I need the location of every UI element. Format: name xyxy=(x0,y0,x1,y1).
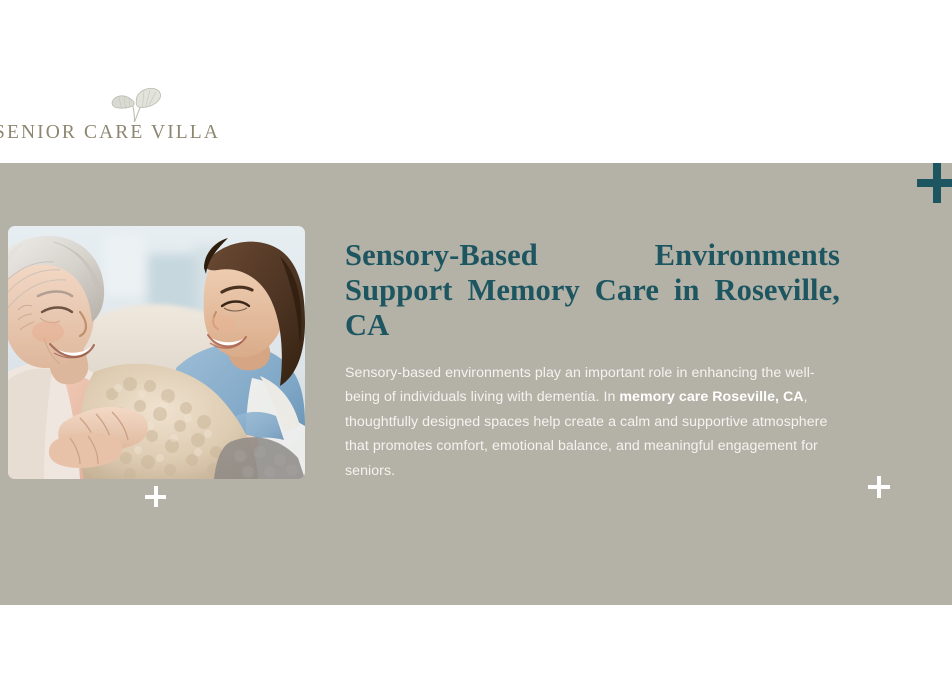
page-footer-spacer xyxy=(0,605,952,673)
plus-icon-top-right xyxy=(917,163,952,203)
hero-copy: Sensory-Based Environments Support Memor… xyxy=(345,163,840,483)
plus-icon-right-lower xyxy=(868,476,890,498)
plus-icon-under-image xyxy=(145,486,166,507)
site-header: SENIOR CARE VILLA xyxy=(0,0,952,163)
brand-wordmark: SENIOR CARE VILLA xyxy=(0,122,220,143)
hero-paragraph-highlight: memory care Roseville, CA xyxy=(619,389,803,405)
ginkgo-leaf-icon xyxy=(109,78,167,124)
hero-section: Sensory-Based Environments Support Memor… xyxy=(0,163,952,605)
hero-heading: Sensory-Based Environments Support Memor… xyxy=(345,238,840,343)
caregiver-senior-photo xyxy=(8,226,305,479)
brand-logo[interactable]: SENIOR CARE VILLA xyxy=(12,58,202,143)
hero-paragraph: Sensory-based environments play an impor… xyxy=(345,361,842,483)
hero-image xyxy=(8,226,305,479)
